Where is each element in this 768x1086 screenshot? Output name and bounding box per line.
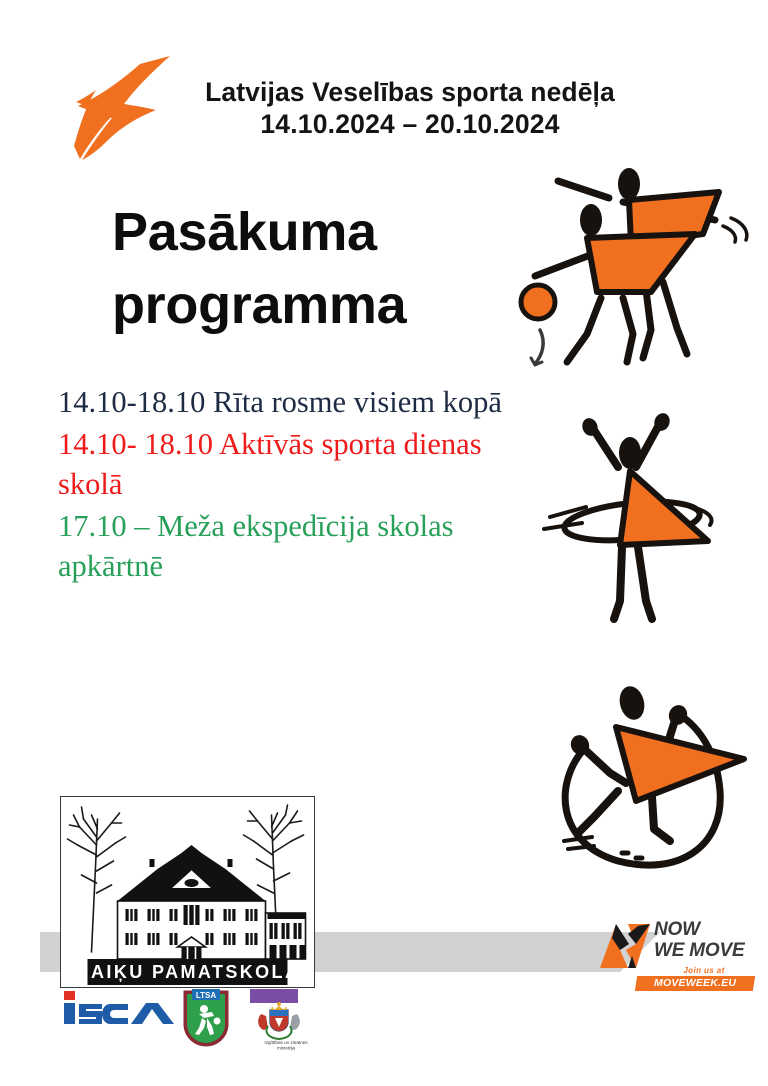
now-we-move-arrow-icon xyxy=(598,922,652,970)
page-title-line2: programma xyxy=(112,269,532,342)
program-entry: 14.10- 18.10 Aktīvās sporta dienas skolā xyxy=(58,424,528,505)
page-title: Pasākuma programma xyxy=(112,196,532,342)
gaiku-pamatskola-logo: GAIĶU PAMATSKOLA xyxy=(60,796,315,988)
school-logo-label: GAIĶU PAMATSKOLA xyxy=(75,962,301,982)
program-list: 14.10-18.10 Rīta rosme visiem kopā 14.10… xyxy=(58,382,528,588)
now-we-move-logo: NOW WE MOVE Join us at MOVEWEEK.EU xyxy=(598,918,758,996)
join-us-at-label: Join us at xyxy=(650,966,758,975)
program-entry: 14.10-18.10 Rīta rosme visiem kopā xyxy=(58,382,528,423)
isca-logo xyxy=(62,990,174,1026)
izm-logo: Izglītības un zinātnes ministrija xyxy=(240,988,332,1052)
now-we-move-wordmark: NOW WE MOVE xyxy=(654,920,744,961)
moveweek-url-text: MOVEWEEK.EU xyxy=(654,976,736,991)
ltsa-logo: LTSA xyxy=(180,988,232,1048)
sponsor-logos: LTSA xyxy=(62,988,322,1052)
header-title-line1: Latvijas Veselības sporta nedēļa xyxy=(150,76,670,108)
poster-canvas: Latvijas Veselības sporta nedēļa 14.10.2… xyxy=(0,0,768,1086)
jump-rope-figure xyxy=(548,665,754,873)
program-entry: 17.10 – Meža ekspedīcija skolas apkārtnē xyxy=(58,506,528,587)
moveweek-url-banner[interactable]: MOVEWEEK.EU xyxy=(635,976,755,991)
izm-logo-label-line2: ministrija xyxy=(277,1046,296,1051)
now-we-move-word2: WE MOVE xyxy=(654,941,744,962)
header-title-line2: 14.10.2024 – 20.10.2024 xyxy=(150,108,670,140)
header-title: Latvijas Veselības sporta nedēļa 14.10.2… xyxy=(150,76,670,141)
ltsa-logo-label: LTSA xyxy=(196,991,217,1000)
izm-logo-label-line1: Izglītības un zinātnes xyxy=(264,1040,308,1045)
page-title-line1: Pasākuma xyxy=(112,196,532,269)
now-we-move-word1: NOW xyxy=(654,920,744,941)
hula-hoop-figure xyxy=(538,405,724,631)
two-dancers-with-ball-figure xyxy=(505,158,767,373)
